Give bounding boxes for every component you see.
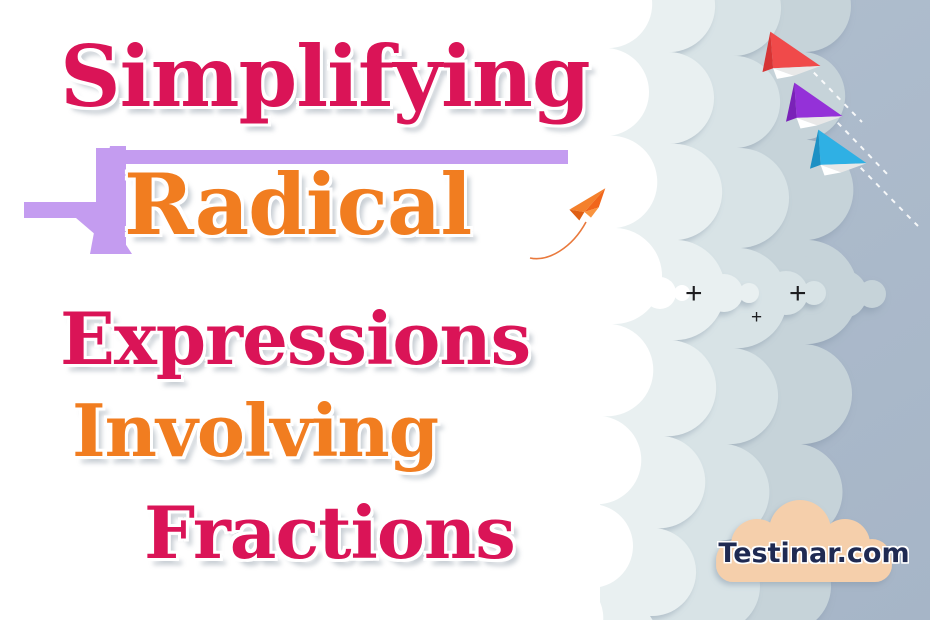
plus-sign-1: +: [685, 279, 703, 309]
title-line-fractions: Fractions: [144, 490, 515, 575]
kite-string: [530, 222, 586, 259]
plus-sign-3: +: [751, 308, 762, 327]
orange-kite-plane: [528, 182, 632, 282]
title-line-expressions: Expressions: [60, 296, 530, 381]
title-line-involving: Involving: [72, 388, 438, 473]
lesson-cover-canvas: Simplifying Radical Expressions Involvin…: [0, 0, 930, 620]
title-line-simplifying: Simplifying: [60, 27, 590, 126]
brand-logo[interactable]: Testinar.com: [716, 508, 912, 600]
orange-kite-plane-svg: [528, 182, 632, 282]
brand-name-label: Testinar.com: [716, 538, 912, 569]
plus-sign-2: +: [789, 279, 807, 309]
title-block: Simplifying Radical Expressions Involvin…: [0, 0, 640, 620]
title-line-radical: Radical: [124, 155, 471, 254]
